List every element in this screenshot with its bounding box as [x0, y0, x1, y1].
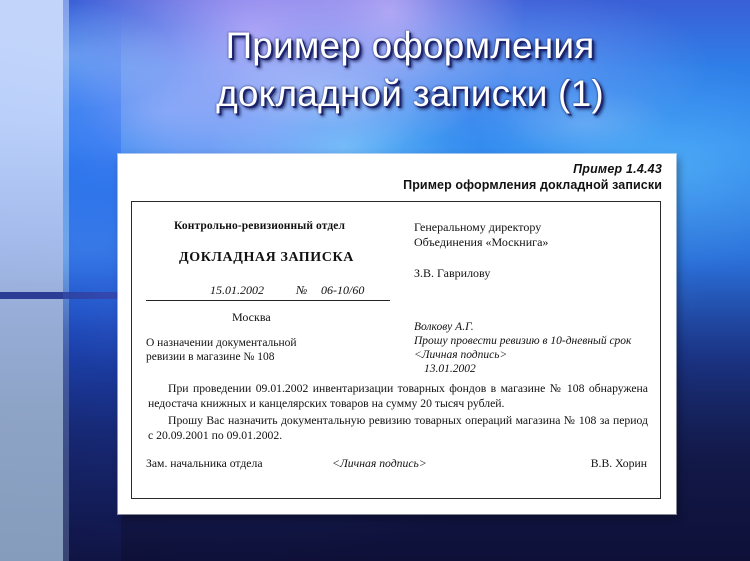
memo-resolution-text: Волкову А.Г. Прошу провести ревизию в 10… [414, 321, 631, 361]
presentation-slide: Пример оформления докладной записки (1) … [0, 0, 750, 561]
document-sheet: Пример 1.4.43 Пример оформления докладно… [118, 154, 676, 514]
memo-signature-row: Зам. начальника отдела <Личная подпись> … [146, 457, 651, 473]
memo-body-paragraph-2: Прошу Вас назначить документальную ревиз… [148, 413, 648, 443]
memo-city: Москва [232, 310, 271, 325]
memo-subject: О назначении документальной ревизии в ма… [146, 336, 386, 364]
memo-resolution: Волкову А.Г. Прошу провести ревизию в 10… [414, 306, 631, 390]
memo-resolution-date: 13.01.2002 [414, 362, 631, 376]
memo-date: 15.01.2002 [210, 283, 264, 298]
memo-addressee-name: З.В. Гаврилову [414, 266, 490, 281]
example-number: Пример 1.4.43 [403, 162, 662, 177]
memo-signer-name: В.В. Хорин [591, 457, 647, 470]
memo-document-frame: Контрольно-ревизионный отдел ДОКЛАДНАЯ З… [131, 201, 661, 499]
memo-date-number-line: 15.01.2002 № 06-10/60 [146, 282, 390, 301]
memo-body-paragraph-1: При проведении 09.01.2002 инвентаризации… [148, 381, 648, 411]
decorative-band-pale [0, 0, 63, 561]
number-sign-icon: № [296, 283, 307, 298]
memo-signature-mark: <Личная подпись> [332, 457, 427, 470]
memo-addressee-org: Генеральному директору Объединения «Моск… [414, 220, 548, 250]
decorative-rule-left [0, 292, 63, 299]
memo-number: 06-10/60 [321, 283, 364, 298]
example-title: Пример оформления докладной записки [403, 177, 662, 193]
sheet-header: Пример 1.4.43 Пример оформления докладно… [403, 162, 662, 193]
memo-signer-position: Зам. начальника отдела [146, 457, 263, 470]
memo-department: Контрольно-ревизионный отдел [174, 220, 345, 232]
memo-doc-type: ДОКЛАДНАЯ ЗАПИСКА [179, 250, 354, 266]
slide-title: Пример оформления докладной записки (1) [110, 22, 710, 118]
